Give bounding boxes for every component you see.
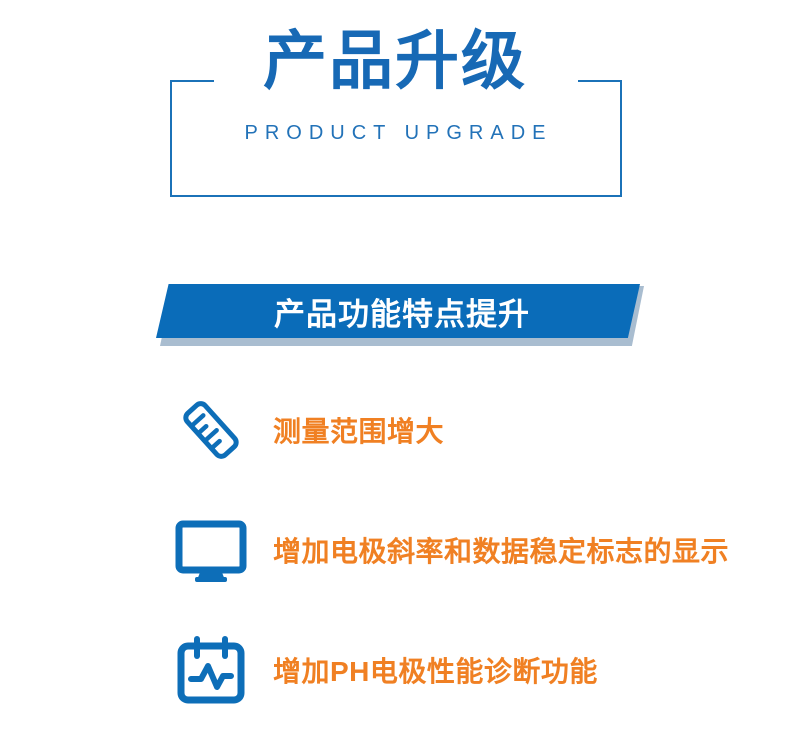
feature-list: 测量范围增大 增加电极斜率和数据稳定标志的显示 增加PH电极性能诊断功能	[0, 370, 790, 730]
ruler-icon	[175, 394, 247, 466]
list-item: 增加电极斜率和数据稳定标志的显示	[0, 490, 790, 610]
list-item: 测量范围增大	[0, 370, 790, 490]
section-banner-label: 产品功能特点提升	[156, 284, 640, 338]
list-item-label: 增加电极斜率和数据稳定标志的显示	[273, 530, 729, 570]
page-subtitle: PRODUCT UPGRADE	[0, 120, 790, 146]
section-banner: 产品功能特点提升	[150, 278, 650, 354]
list-item: 增加PH电极性能诊断功能	[0, 610, 790, 730]
clipboard-pulse-icon	[175, 634, 247, 706]
page-header: 产品升级 PRODUCT UPGRADE	[0, 0, 790, 230]
list-item-label: 测量范围增大	[273, 410, 444, 450]
page-title: 产品升级	[0, 26, 790, 96]
list-item-label: 增加PH电极性能诊断功能	[273, 650, 598, 690]
monitor-icon	[175, 514, 247, 586]
